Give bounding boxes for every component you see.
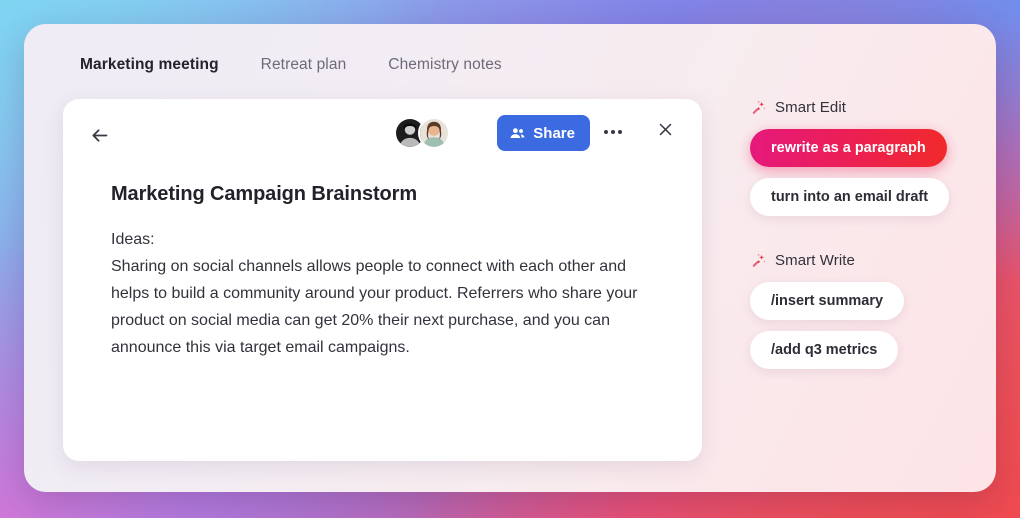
document-paragraph-2: Sharing on social channels allows people…: [111, 253, 662, 361]
close-icon: [657, 121, 674, 143]
document-card: Share Marketing: [63, 99, 702, 461]
share-button[interactable]: Share: [497, 115, 590, 151]
chip-rewrite-as-a-paragraph[interactable]: rewrite as a paragraph: [750, 129, 947, 167]
collaborator-avatars[interactable]: [394, 117, 450, 149]
magic-wand-icon: [750, 99, 767, 116]
assistant-group-smart-write: Smart Write /insert summary /add q3 metr…: [750, 252, 996, 380]
chip-turn-into-an-email-draft[interactable]: turn into an email draft: [750, 178, 949, 216]
tab-chemistry-notes[interactable]: Chemistry notes: [388, 56, 501, 74]
arrow-left-icon: [89, 125, 110, 146]
smart-write-header: Smart Write: [750, 252, 996, 269]
back-button[interactable]: [83, 119, 115, 151]
tab-bar: Marketing meeting Retreat plan Chemistry…: [80, 56, 502, 74]
document-title: Marketing Campaign Brainstorm: [111, 183, 662, 206]
tab-retreat-plan[interactable]: Retreat plan: [261, 56, 347, 74]
chip-add-q3-metrics[interactable]: /add q3 metrics: [750, 331, 898, 369]
smart-edit-header: Smart Edit: [750, 99, 996, 116]
document-toolbar: Share: [63, 99, 702, 171]
avatar-person-2[interactable]: [418, 117, 450, 149]
document-paragraph-1: Ideas:: [111, 226, 662, 253]
more-options-button[interactable]: [598, 117, 628, 147]
smart-edit-title: Smart Edit: [775, 99, 846, 116]
app-panel: Marketing meeting Retreat plan Chemistry…: [24, 24, 996, 492]
document-body[interactable]: Marketing Campaign Brainstorm Ideas: Sha…: [63, 171, 702, 361]
close-button[interactable]: [650, 117, 680, 147]
people-icon: [509, 125, 526, 142]
share-button-label: Share: [533, 125, 575, 142]
ellipsis-icon: [604, 130, 622, 134]
smart-write-title: Smart Write: [775, 252, 855, 269]
magic-wand-icon: [750, 252, 767, 269]
chip-insert-summary[interactable]: /insert summary: [750, 282, 904, 320]
app-background: Marketing meeting Retreat plan Chemistry…: [0, 0, 1020, 518]
assistant-group-smart-edit: Smart Edit rewrite as a paragraph turn i…: [750, 99, 996, 227]
assistant-sidebar: Smart Edit rewrite as a paragraph turn i…: [750, 99, 996, 380]
tab-marketing-meeting[interactable]: Marketing meeting: [80, 56, 219, 74]
